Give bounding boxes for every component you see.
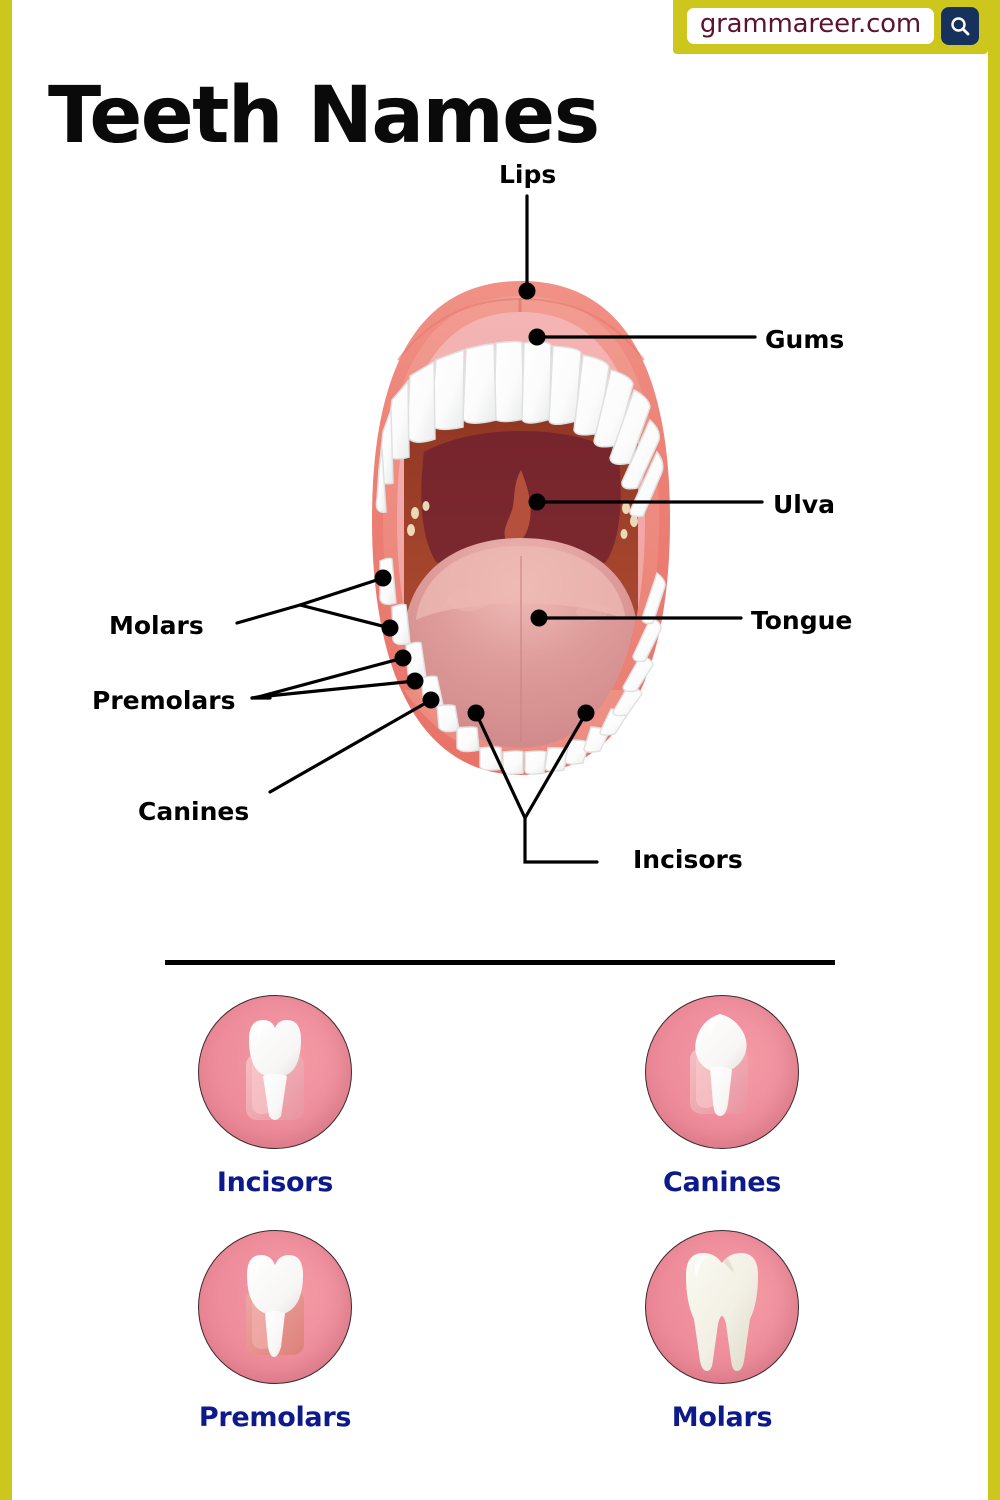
callout-label-lips: Lips (499, 162, 556, 187)
premolar-tooth-icon (199, 1231, 351, 1383)
dot-molars-a (375, 570, 392, 587)
leader-canines (270, 700, 431, 792)
leader-premolars-b (258, 681, 415, 697)
tooth-type-grid: Incisors Canines (0, 995, 1000, 1495)
tooth-card-circle (198, 995, 352, 1149)
incisor-tooth-icon (199, 996, 351, 1148)
tooth-card-premolars[interactable]: Premolars (150, 1230, 400, 1433)
tooth-card-canines[interactable]: Canines (597, 995, 847, 1198)
callout-label-tongue: Tongue (751, 608, 852, 633)
leader-molars-b (300, 605, 390, 628)
tooth-card-molars[interactable]: Molars (597, 1230, 847, 1433)
callout-label-gums: Gums (765, 327, 844, 352)
tooth-card-incisors[interactable]: Incisors (150, 995, 400, 1198)
tooth-card-circle (198, 1230, 352, 1384)
dot-lips (519, 283, 536, 300)
tooth-card-label: Premolars (150, 1402, 400, 1433)
callout-label-molars: Molars (109, 613, 204, 638)
dot-premolars-a (395, 650, 412, 667)
dot-incisors-a (468, 705, 485, 722)
dot-molars-b (382, 620, 399, 637)
callout-label-premolars: Premolars (92, 688, 235, 713)
dot-incisors-b (578, 705, 595, 722)
dot-canines (423, 692, 440, 709)
callout-label-canines: Canines (138, 799, 249, 824)
leader-premolars-a (252, 658, 403, 698)
molar-tooth-icon (646, 1231, 798, 1383)
section-divider (165, 960, 835, 965)
dot-ulva (529, 494, 546, 511)
canine-tooth-icon (646, 996, 798, 1148)
infographic-page: grammareer.com Teeth Names (0, 0, 1000, 1500)
callout-label-ulva: Ulva (773, 492, 835, 517)
dot-gums (529, 329, 546, 346)
tooth-card-label: Canines (597, 1167, 847, 1198)
leader-molars-a (237, 578, 383, 623)
dot-tongue (531, 610, 548, 627)
tooth-card-circle (645, 1230, 799, 1384)
dot-premolars-b (407, 673, 424, 690)
callout-label-incisors: Incisors (633, 847, 743, 872)
tooth-card-label: Molars (597, 1402, 847, 1433)
tooth-card-circle (645, 995, 799, 1149)
tooth-card-label: Incisors (150, 1167, 400, 1198)
